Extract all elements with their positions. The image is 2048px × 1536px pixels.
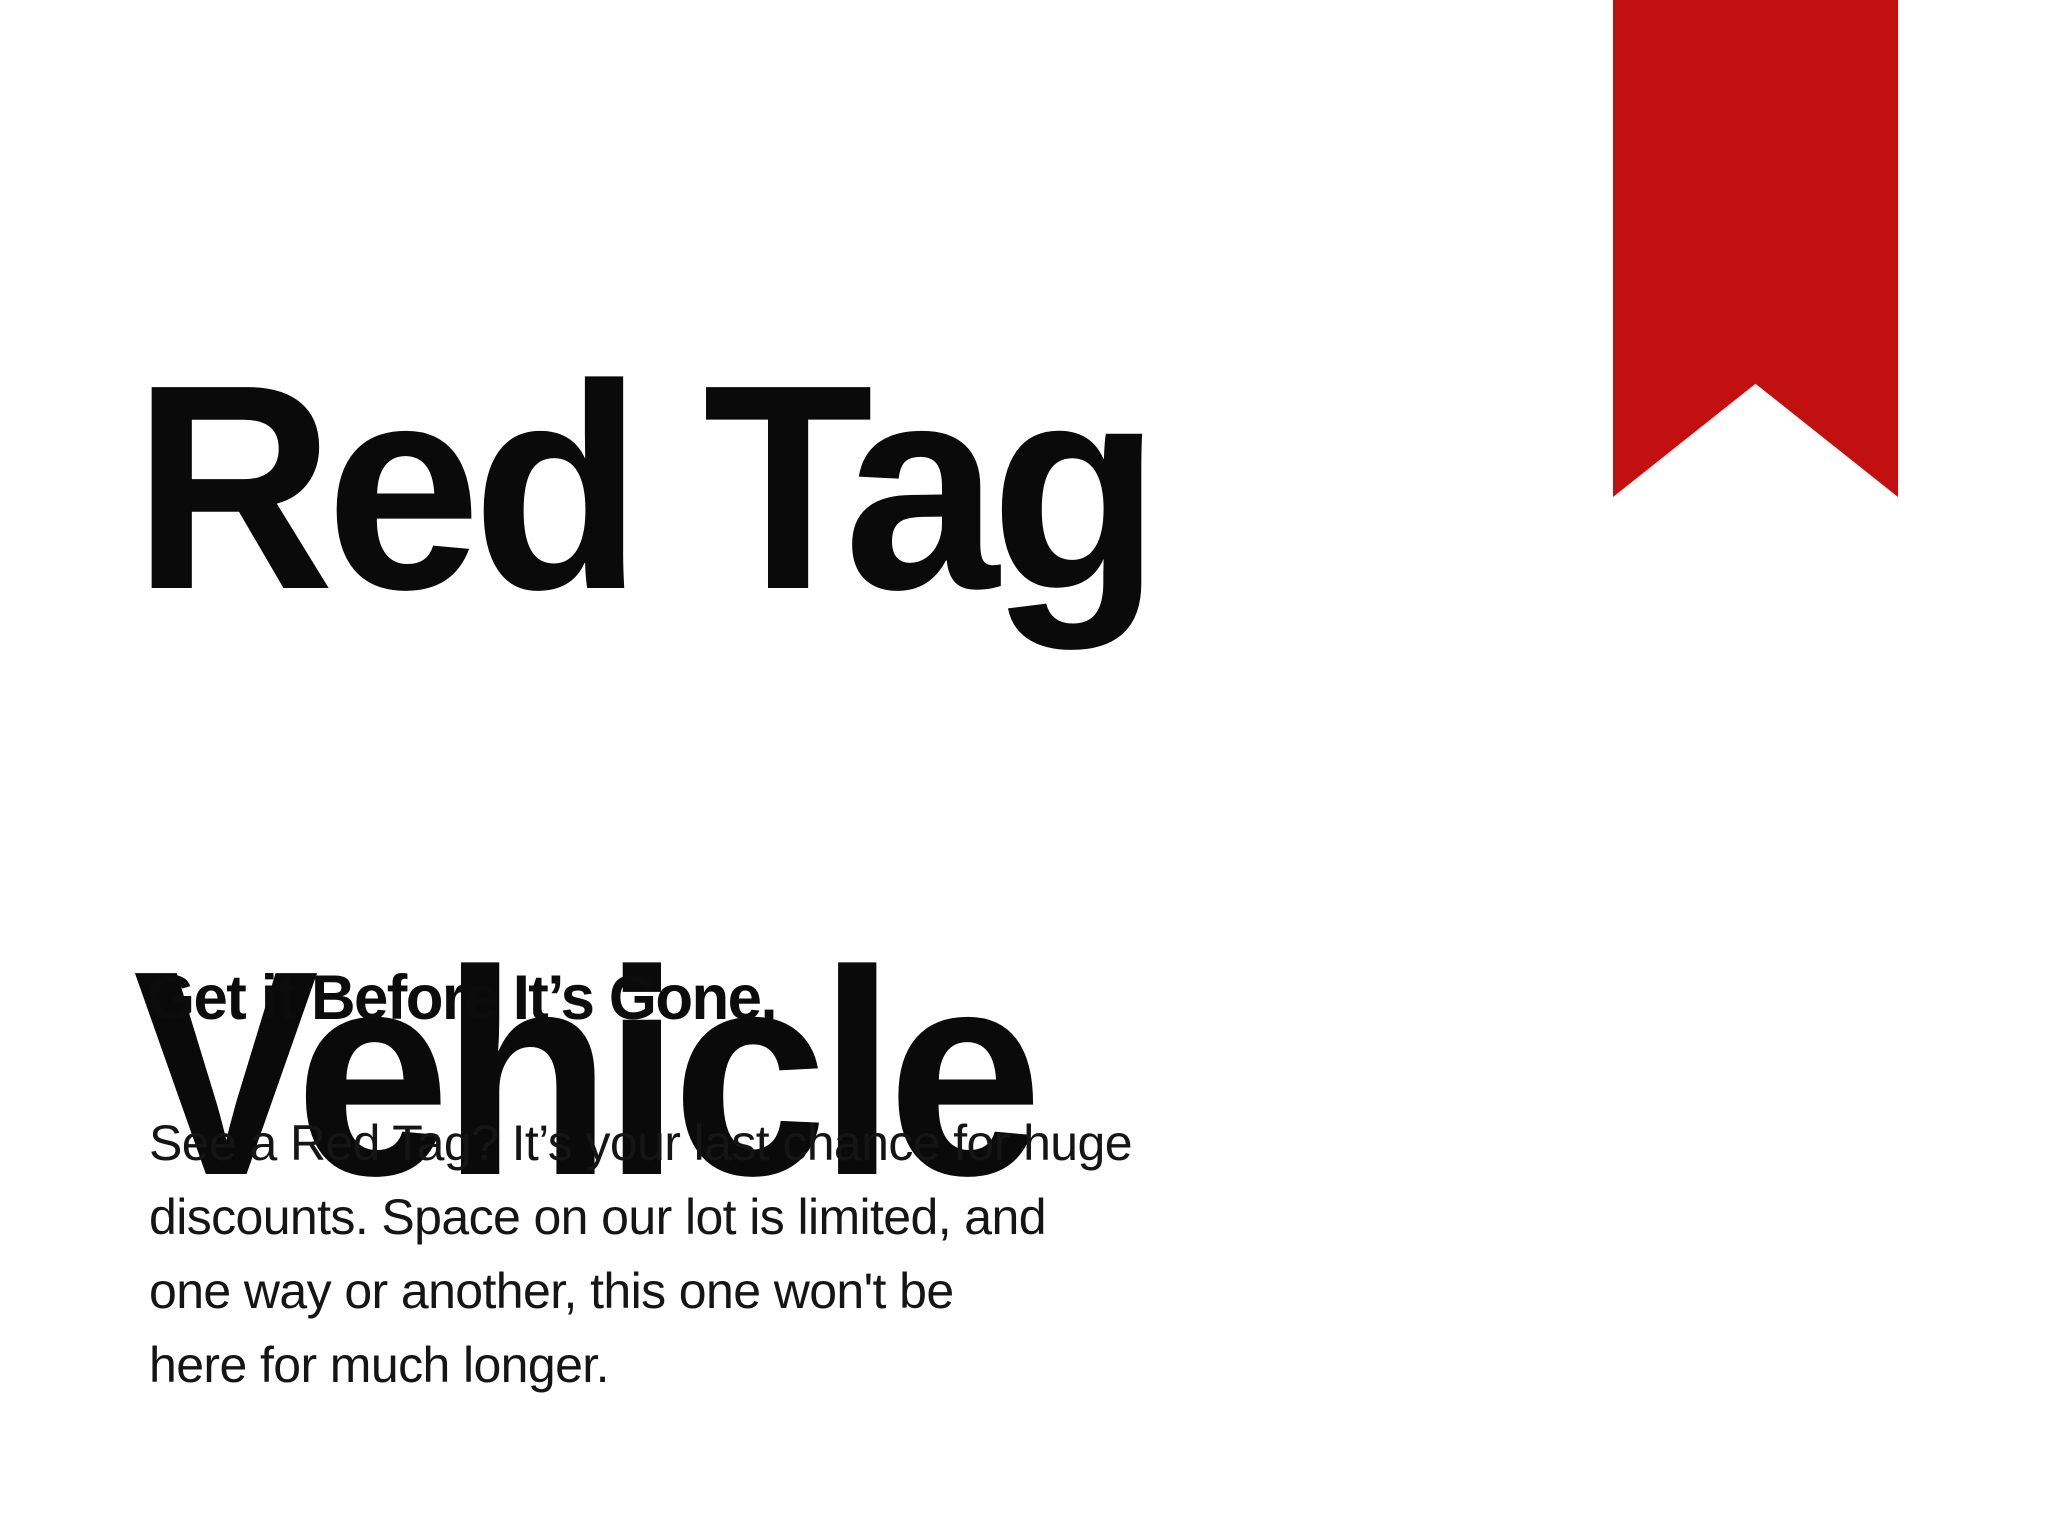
body-paragraph: See a Red Tag? It’s your last chance for… bbox=[149, 1106, 1399, 1402]
body-line-2: discounts. Space on our lot is limited, … bbox=[149, 1180, 1399, 1254]
body-line-3: one way or another, this one won't be bbox=[149, 1254, 1399, 1328]
body-line-4: here for much longer. bbox=[149, 1328, 1399, 1402]
subheading: Get it Before It’s Gone. bbox=[147, 962, 776, 1034]
promo-banner: Red Tag Vehicle Get it Before It’s Gone.… bbox=[0, 0, 2048, 1536]
page-title-line-1: Red Tag bbox=[133, 341, 1152, 634]
red-tag-ribbon-icon bbox=[1613, 0, 1898, 497]
content-column: Red Tag Vehicle Get it Before It’s Gone.… bbox=[151, 0, 1451, 1536]
body-line-1: See a Red Tag? It’s your last chance for… bbox=[149, 1106, 1399, 1180]
